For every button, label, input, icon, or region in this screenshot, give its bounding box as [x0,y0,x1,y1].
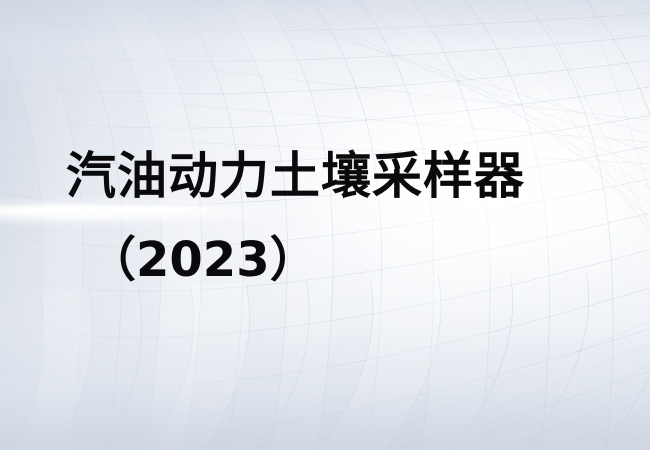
presentation-slide: 汽油动力土壤采样器 （2023） [0,0,650,450]
background-tint-top [0,0,650,450]
